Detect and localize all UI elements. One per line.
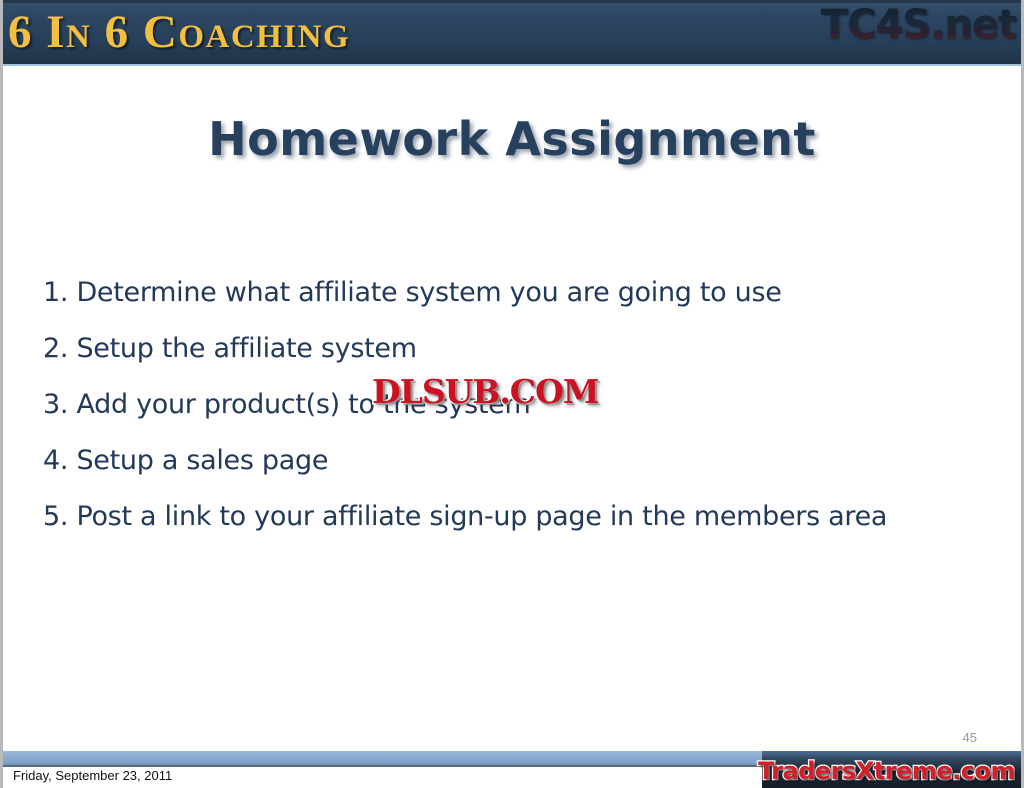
- slide-page-number: 45: [963, 730, 977, 746]
- tc4s-logo: TC4S.net: [821, 2, 1016, 48]
- list-item: 2. Setup the affiliate system: [43, 332, 988, 366]
- list-item: 1. Determine what affiliate system you a…: [43, 276, 988, 310]
- brand-title: 6 In 6 Coaching: [8, 4, 350, 60]
- slide-header-band: 6 In 6 Coaching TC4S.net: [0, 0, 1024, 66]
- presentation-slide: 6 In 6 Coaching TC4S.net Homework Assign…: [0, 0, 1024, 788]
- tradersxtreme-logo: TradersXtreme.com: [758, 757, 1015, 785]
- list-item: 5. Post a link to your affiliate sign-up…: [43, 500, 988, 534]
- list-item: 4. Setup a sales page: [43, 444, 988, 478]
- page-title: Homework Assignment: [3, 112, 1021, 166]
- homework-list: 1. Determine what affiliate system you a…: [43, 276, 988, 556]
- footer-date: Friday, September 23, 2011: [13, 768, 172, 784]
- dlsub-watermark: DLSUB.COM: [372, 372, 598, 411]
